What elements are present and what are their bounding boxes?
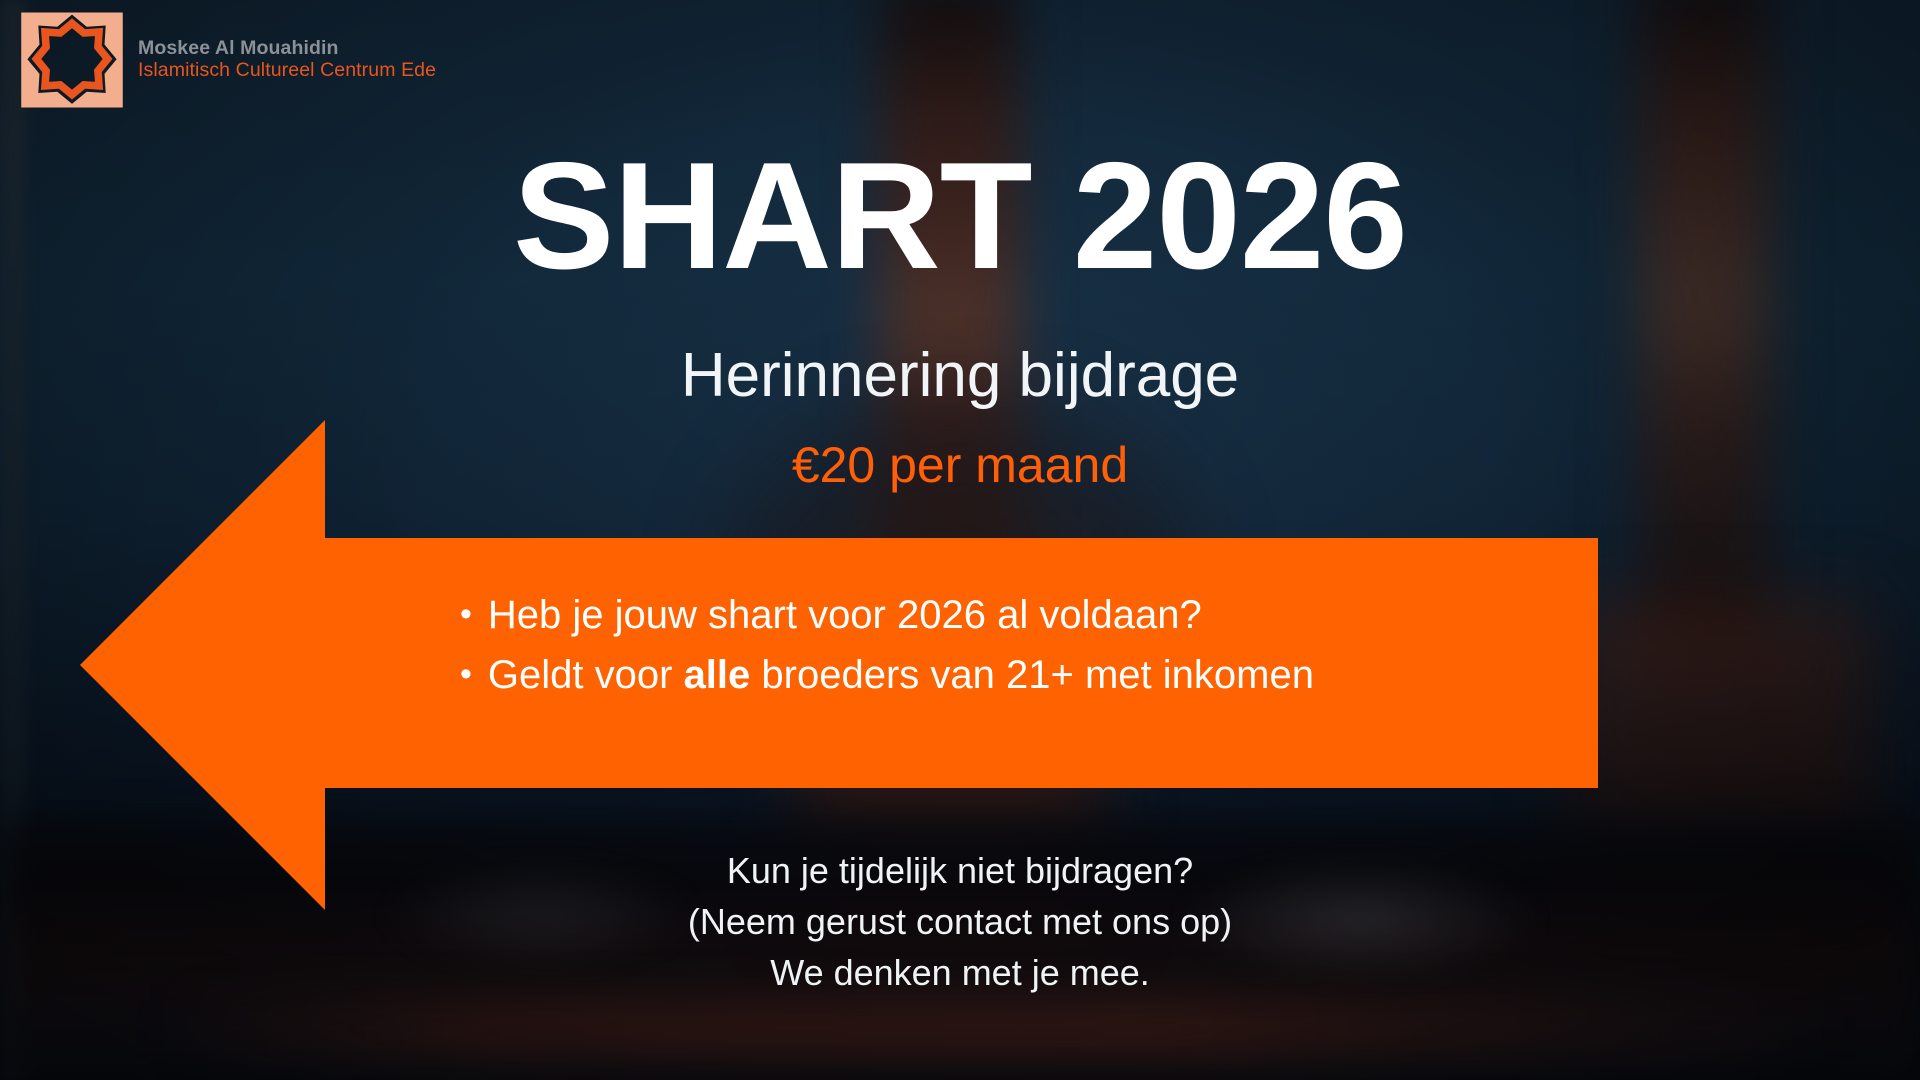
bullet-text: Heb je jouw shart voor 2026 al voldaan? — [488, 585, 1202, 645]
brand-tagline: Islamitisch Cultureel Centrum Ede — [138, 60, 436, 82]
footer-line-3: We denken met je mee. — [0, 947, 1920, 998]
banner-bullet-list: • Heb je jouw shart voor 2026 al voldaan… — [460, 585, 1590, 705]
bullet-icon: • — [460, 597, 472, 631]
bullet-text: Geldt voor alle broeders van 21+ met ink… — [488, 645, 1314, 705]
page-subtitle: Herinnering bijdrage — [0, 345, 1920, 407]
brand-text: Moskee Al Mouahidin Islamitisch Culturee… — [138, 38, 436, 82]
brand-name: Moskee Al Mouahidin — [138, 38, 436, 60]
footer-note: Kun je tijdelijk niet bijdragen? (Neem g… — [0, 845, 1920, 998]
brand-lockup: Moskee Al Mouahidin Islamitisch Culturee… — [18, 6, 436, 114]
bullet-icon: • — [460, 657, 472, 691]
list-item: • Geldt voor alle broeders van 21+ met i… — [460, 645, 1590, 705]
poster-canvas: Moskee Al Mouahidin Islamitisch Culturee… — [0, 0, 1920, 1080]
page-title: SHART 2026 — [0, 140, 1920, 292]
list-item: • Heb je jouw shart voor 2026 al voldaan… — [460, 585, 1590, 645]
eight-pointed-star-logo-icon — [18, 6, 126, 114]
footer-line-1: Kun je tijdelijk niet bijdragen? — [0, 845, 1920, 896]
footer-line-2: (Neem gerust contact met ons op) — [0, 896, 1920, 947]
